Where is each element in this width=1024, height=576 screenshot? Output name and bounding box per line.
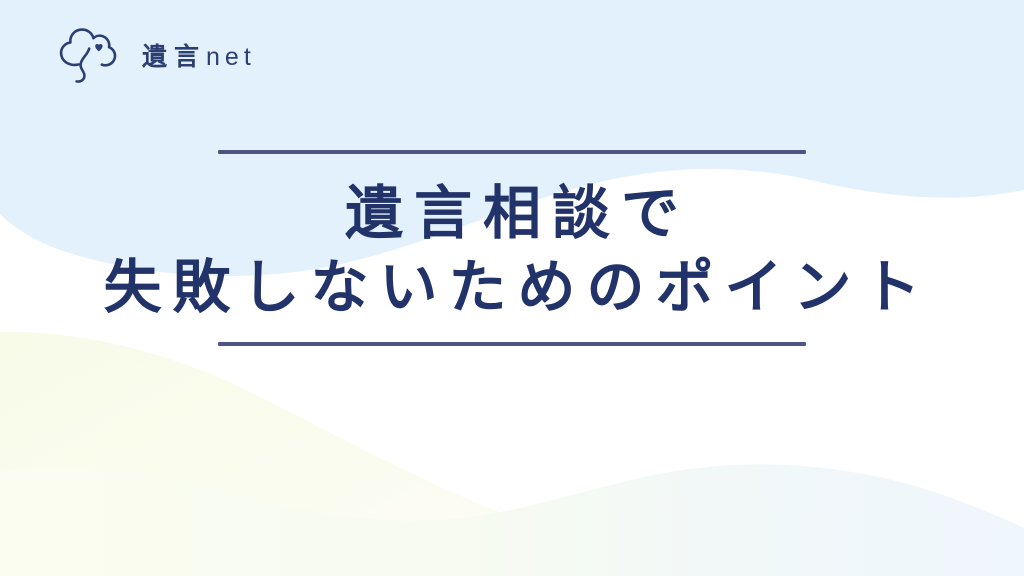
divider-bottom — [218, 342, 806, 346]
page-title: 遺言相談で 失敗しないためのポイント — [92, 176, 931, 324]
heart-icon — [95, 44, 102, 51]
page-title-line-2: 失敗しないためのポイント — [92, 250, 931, 324]
brand-logo-text: 遺言net — [142, 43, 256, 70]
title-block: 遺言相談で 失敗しないためのポイント — [0, 150, 1024, 346]
brand-logo[interactable]: 遺言net — [54, 26, 256, 86]
tree-heart-logo-icon — [54, 26, 120, 86]
brand-name-en: net — [206, 43, 256, 71]
page-title-line-1: 遺言相談で — [92, 176, 931, 250]
brand-name-jp: 遺言 — [142, 42, 206, 71]
slide-canvas: 遺言net 遺言相談で 失敗しないためのポイント — [0, 0, 1024, 576]
bottom-wave-shape — [0, 464, 1024, 576]
divider-top — [218, 150, 806, 154]
bottom-left-blob-shape — [0, 332, 780, 576]
